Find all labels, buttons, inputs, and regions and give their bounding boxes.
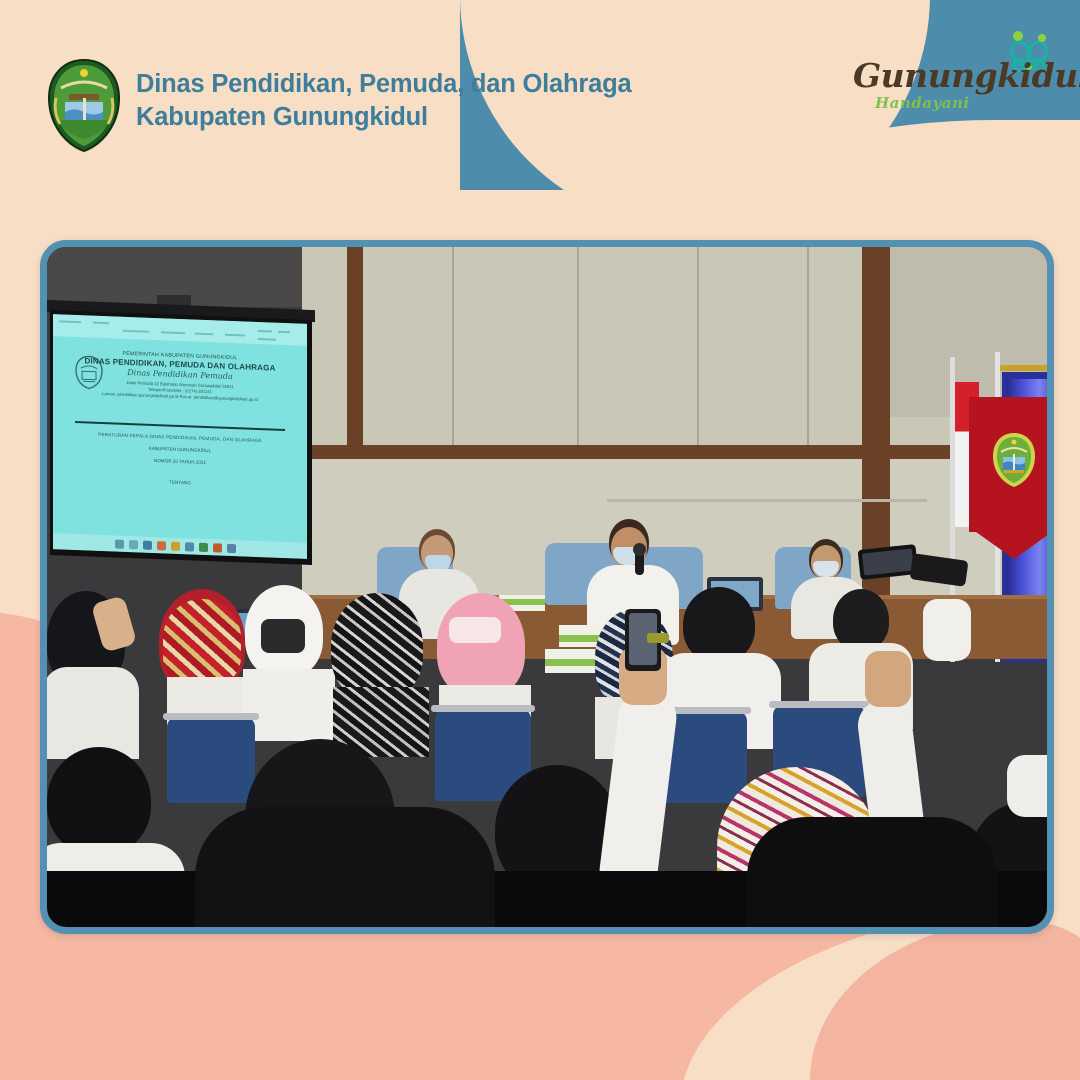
chair-frame xyxy=(769,701,869,708)
wall-post-vertical xyxy=(862,247,890,647)
foreground-silhouette xyxy=(747,817,997,927)
brand-wordmark: Gunungkidul xyxy=(853,56,1033,95)
screen-document: PEMERINTAH KABUPATEN GUNUNGKIDUL DINAS P… xyxy=(67,349,293,528)
screen-body-line3: NOMOR 20 TAHUN 2021 xyxy=(67,455,293,469)
screen-document-rule xyxy=(75,421,285,431)
attendee-head xyxy=(47,747,151,855)
foreground-silhouette xyxy=(195,807,495,927)
wall-beam-horizontal xyxy=(302,445,1047,459)
screen-document-body: PERATURAN KEPALA DINAS PENDIDIKAN, PEMUD… xyxy=(67,431,293,490)
attendee-shoulder xyxy=(1007,755,1047,817)
gunungkidul-brand-logo: Gunungkidul Handayani xyxy=(853,28,1068,133)
screen-document-header: PEMERINTAH KABUPATEN GUNUNGKIDUL DINAS P… xyxy=(67,349,293,405)
attendee-face-mask xyxy=(261,619,305,653)
chair xyxy=(167,717,255,803)
poster-canvas: Dinas Pendidikan, Pemuda, dan Olahraga K… xyxy=(0,0,1080,1080)
microphone-head xyxy=(633,543,646,556)
screen-body-line2: KABUPATEN GUNUNGKIDUL xyxy=(67,443,293,457)
screen-body-line1: PERATURAN KEPALA DINAS PENDIDIKAN, PEMUD… xyxy=(67,431,293,445)
page-title: Dinas Pendidikan, Pemuda, dan Olahraga K… xyxy=(136,68,631,134)
wall-post-vertical xyxy=(347,247,363,452)
chair-frame xyxy=(431,705,535,712)
footer: @dikpora_gk pendidikan.gunungkidulkab.go… xyxy=(0,930,1080,1080)
event-photo: PEMERINTAH KABUPATEN GUNUNGKIDUL DINAS P… xyxy=(47,247,1047,927)
panel-seam xyxy=(697,247,699,447)
screen-body-line4: TENTANG xyxy=(67,476,293,490)
attendee-hijab-pattern xyxy=(163,599,241,687)
regency-crest-icon xyxy=(45,58,123,153)
org-line-1: Dinas Pendidikan, Pemuda, dan Olahraga xyxy=(136,68,631,101)
wall-rail xyxy=(607,499,927,502)
chair-frame xyxy=(163,713,259,720)
event-photo-frame: PEMERINTAH KABUPATEN GUNUNGKIDUL DINAS P… xyxy=(40,240,1054,934)
panel-seam xyxy=(452,247,454,447)
attendee-body xyxy=(243,669,335,741)
attendee-body xyxy=(47,667,139,759)
attendee-hijab-patterned xyxy=(331,593,423,699)
brand-tagline: Handayani xyxy=(875,94,970,112)
attendee-head xyxy=(683,587,755,663)
panel-seam xyxy=(807,247,809,447)
curtain-rod xyxy=(999,365,1047,371)
attendee-face-mask xyxy=(449,617,501,643)
header: Dinas Pendidikan, Pemuda, dan Olahraga K… xyxy=(0,0,1080,200)
banner-point xyxy=(969,527,1047,559)
attendee-hijab-pink xyxy=(437,593,525,697)
panel-seam xyxy=(577,247,579,447)
attendee-arm xyxy=(923,599,971,661)
attendee-head xyxy=(833,589,889,651)
hand-right xyxy=(865,651,911,707)
org-line-2: Kabupaten Gunungkidul xyxy=(136,101,631,134)
banner-crest-icon xyxy=(991,432,1037,488)
projection-screen: PEMERINTAH KABUPATEN GUNUNGKIDUL DINAS P… xyxy=(53,314,307,559)
